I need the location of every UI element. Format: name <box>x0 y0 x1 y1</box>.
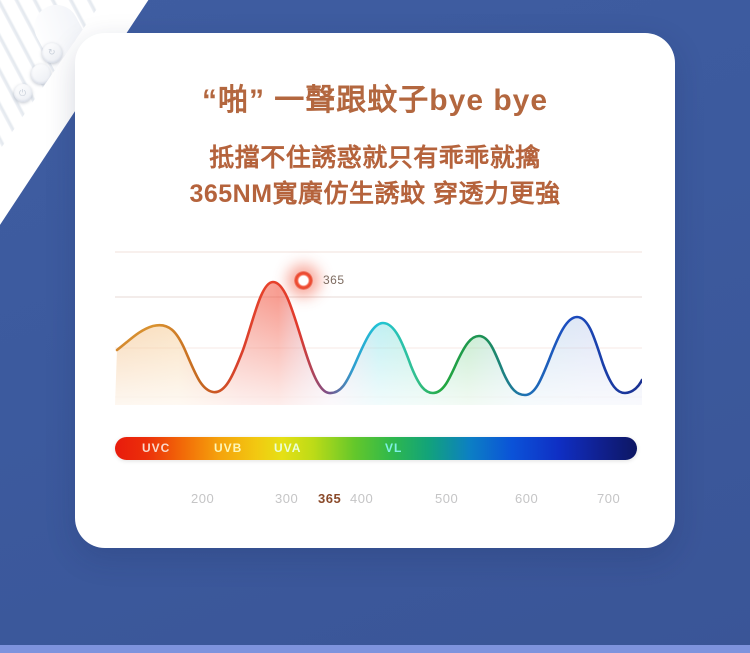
axis-tick-600: 600 <box>515 491 538 506</box>
axis-tick-400: 400 <box>350 491 373 506</box>
spectrum-band-uvc: UVC <box>142 441 170 455</box>
axis-tick-300: 300 <box>275 491 298 506</box>
page-title: “啪” 一聲跟蚊子bye bye <box>75 33 675 119</box>
spectrum-chart: 365 <box>115 240 642 405</box>
power-icon: ⏻ <box>19 89 26 98</box>
content-card: “啪” 一聲跟蚊子bye bye 抵擋不住誘惑就只有乖乖就擒 365NM寬廣仿生… <box>75 33 675 548</box>
subtitle-line-2: 365NM寬廣仿生誘蚊 穿透力更強 <box>75 177 675 213</box>
peak-annotation-label: 365 <box>323 273 345 287</box>
axis-tick-700: 700 <box>597 491 620 506</box>
subtitle-block: 抵擋不住誘惑就只有乖乖就擒 365NM寬廣仿生誘蚊 穿透力更強 <box>75 141 675 212</box>
axis-tick-200: 200 <box>191 491 214 506</box>
wavelength-axis: 200300365400500600700800 <box>115 491 675 511</box>
subtitle-line-1: 抵擋不住誘惑就只有乖乖就擒 <box>75 141 675 177</box>
spectrum-band-uvb: UVB <box>214 441 242 455</box>
bottom-accent-strip <box>0 645 750 653</box>
spectrum-gradient-bar: UVC UVB UVA VL <box>115 437 637 460</box>
peak-glow-marker <box>294 271 313 290</box>
spectrum-band-vl: VL <box>385 441 402 455</box>
spectrum-band-uva: UVA <box>274 441 301 455</box>
refresh-icon: ↻ <box>48 48 56 57</box>
axis-tick-500: 500 <box>435 491 458 506</box>
axis-tick-365: 365 <box>318 491 341 506</box>
chart-svg <box>115 240 642 405</box>
